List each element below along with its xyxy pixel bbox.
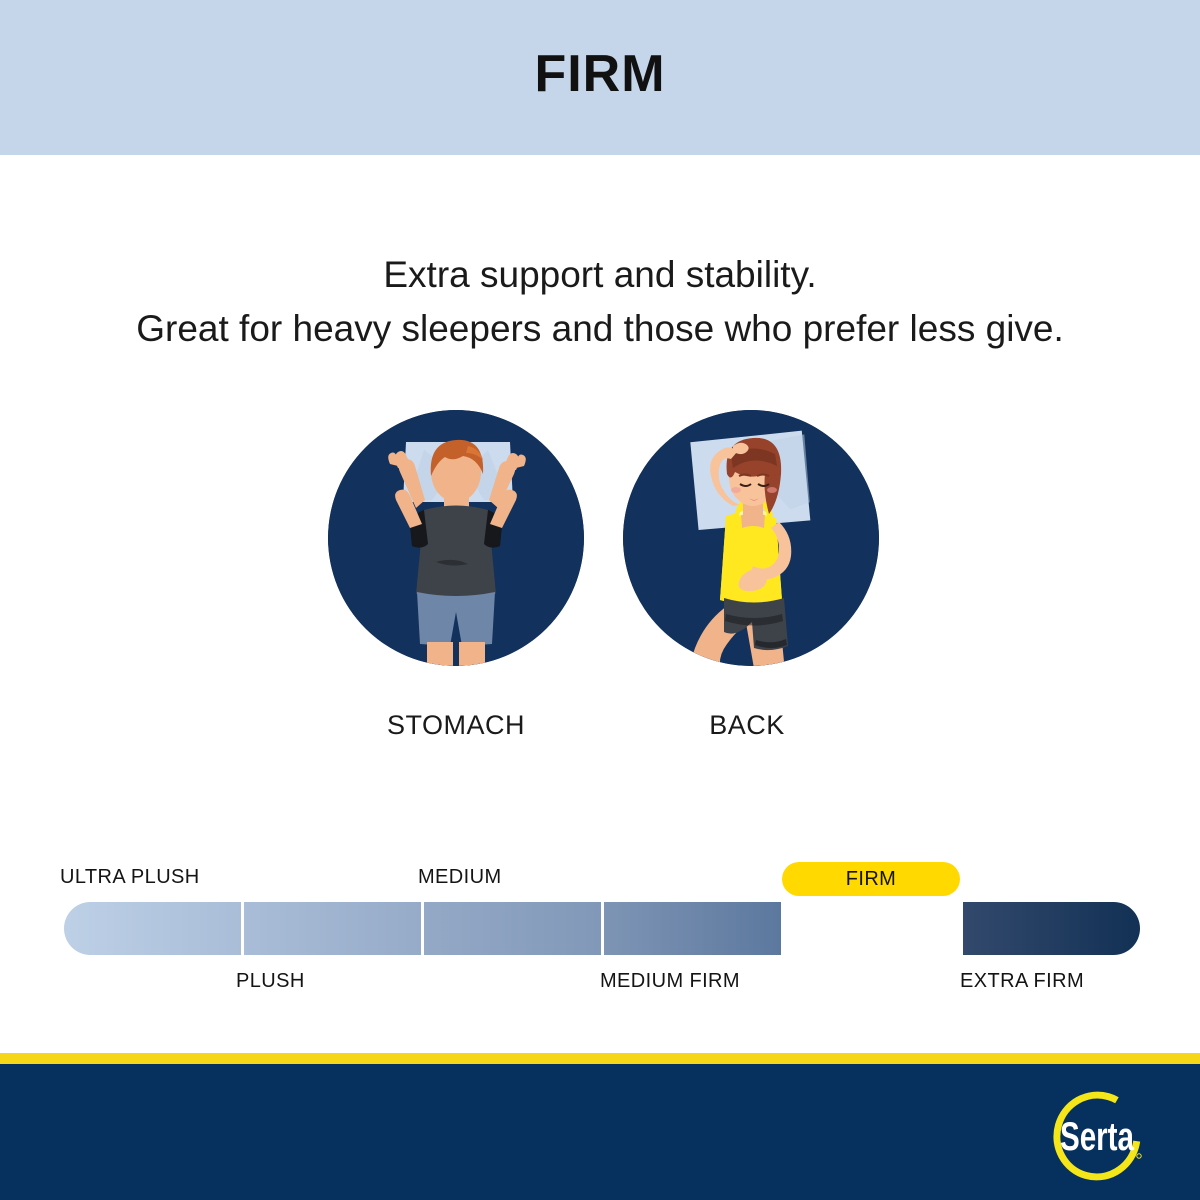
scale-segment-extra-firm[interactable]: [963, 902, 1140, 955]
scale-segment-medium[interactable]: [424, 902, 601, 955]
stomach-sleeper-illustration: [328, 410, 584, 666]
description-line-1: Extra support and stability.: [0, 248, 1200, 302]
scale-label-medium: MEDIUM: [418, 866, 502, 889]
footer-band: [0, 1064, 1200, 1200]
sleep-position-back: BACK: [623, 410, 879, 666]
scale-segment-plush[interactable]: [244, 902, 421, 955]
serta-logo-mark: Serta: [1038, 1090, 1156, 1182]
back-sleeper-illustration: [623, 410, 879, 666]
page-title: FIRM: [0, 44, 1200, 104]
serta-logo[interactable]: Serta: [1038, 1090, 1156, 1182]
scale-label-plush: PLUSH: [236, 970, 305, 993]
back-circle-wrap: [623, 410, 879, 666]
firmness-scale: ULTRA PLUSH PLUSH MEDIUM MEDIUM FIRM EXT…: [0, 862, 1200, 1012]
serta-wordmark: Serta: [1060, 1115, 1134, 1159]
scale-label-extra-firm: EXTRA FIRM: [960, 970, 1084, 993]
firmness-scale-bar: [64, 902, 1140, 955]
stomach-circle-wrap: [328, 410, 584, 666]
firmness-infographic: FIRM Extra support and stability. Great …: [0, 0, 1200, 1200]
scale-segment-medium-firm[interactable]: [604, 902, 781, 955]
stomach-circle: [328, 410, 584, 666]
scale-label-medium-firm: MEDIUM FIRM: [600, 970, 740, 993]
sleep-position-stomach: STOMACH: [328, 410, 584, 666]
sleep-position-label-back: BACK: [619, 710, 875, 741]
footer-accent-stripe: [0, 1053, 1200, 1064]
description-text: Extra support and stability. Great for h…: [0, 248, 1200, 356]
sleep-position-row: STOMACH: [0, 410, 1200, 760]
scale-label-ultra-plush: ULTRA PLUSH: [60, 866, 200, 889]
back-circle: [623, 410, 879, 666]
scale-segment-ultra-plush[interactable]: [64, 902, 241, 955]
scale-label-firm: FIRM: [782, 862, 960, 896]
sleep-position-label-stomach: STOMACH: [328, 710, 584, 741]
scale-highlight-pill-firm[interactable]: FIRM: [782, 862, 960, 896]
scale-segment-firm[interactable]: [784, 902, 960, 955]
description-line-2: Great for heavy sleepers and those who p…: [0, 302, 1200, 356]
